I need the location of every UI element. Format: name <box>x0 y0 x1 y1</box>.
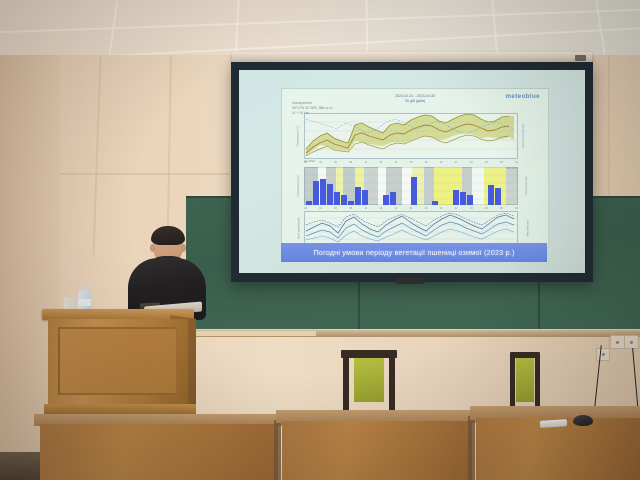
wind-ylabel-right: Wind direction <box>526 219 529 235</box>
screen-bottom-bar <box>395 277 425 284</box>
temp-ylabel-left: Temperature (°C) <box>296 126 299 146</box>
chair-right-upholstery <box>516 358 534 402</box>
presenter-hair <box>151 226 185 245</box>
roller-bracket-icon <box>575 55 586 61</box>
temperature-plot <box>304 113 518 159</box>
projection-screen-surface: meteoblue 2023-04-01 - 2023-04-30 30 дiб… <box>239 70 585 273</box>
precipitation-panel: Apr 2023 Precipitation (mm) Cloud cover … <box>304 167 518 205</box>
presenter-ear-right <box>181 244 186 252</box>
water-bottle[interactable] <box>78 285 91 311</box>
precipitation-plot <box>304 167 518 205</box>
podium <box>44 309 192 419</box>
slide-caption-text: Погоднi умови перiоду вегетацiї пшеницi … <box>313 248 514 257</box>
chair-right[interactable] <box>510 352 540 414</box>
meteoblue-chart: meteoblue 2023-04-01 - 2023-04-30 30 дiб… <box>281 88 549 248</box>
precip-ylabel-left: Precipitation (mm) <box>297 175 300 196</box>
wind-plot <box>304 211 518 244</box>
slide-caption-banner: Погоднi умови перiоду вегетацiї пшеницi … <box>281 243 547 262</box>
chair-left-upholstery <box>354 358 384 402</box>
lecture-hall-photo: meteoblue 2023-04-01 - 2023-04-30 30 дiб… <box>0 0 640 480</box>
precip-x-ticks: 02 04 06 08 10 12 14 16 18 20 22 24 26 2… <box>304 207 518 210</box>
podium-body <box>48 319 188 407</box>
power-outlet-2[interactable] <box>624 335 639 349</box>
chalk-ledge <box>196 331 316 336</box>
month-start-label: Apr 2023 <box>304 160 315 163</box>
presenter-ear-left <box>150 244 155 252</box>
wind-panel: Wind speed (km/h) Wind direction <box>304 211 518 244</box>
power-outlet-3[interactable] <box>596 348 610 361</box>
temp-ylabel-right: Relative humidity (%) <box>522 124 525 149</box>
computer-mouse[interactable] <box>573 415 593 426</box>
presentation-slide: meteoblue 2023-04-01 - 2023-04-30 30 дiб… <box>239 70 585 273</box>
wind-ylabel-left: Wind speed (km/h) <box>297 217 300 239</box>
precip-ylabel-right: Cloud cover (%) <box>525 177 528 196</box>
temp-x-ticks: 02 04 06 08 10 12 14 16 18 20 22 24 26 2… <box>304 161 518 164</box>
bottle-cap <box>81 285 88 291</box>
podium-front-panel <box>58 327 178 395</box>
chair-left[interactable] <box>341 350 397 414</box>
power-outlet-1[interactable] <box>610 335 625 349</box>
temperature-panel: Temperature (°C) Relative humidity (%) <box>304 113 518 159</box>
